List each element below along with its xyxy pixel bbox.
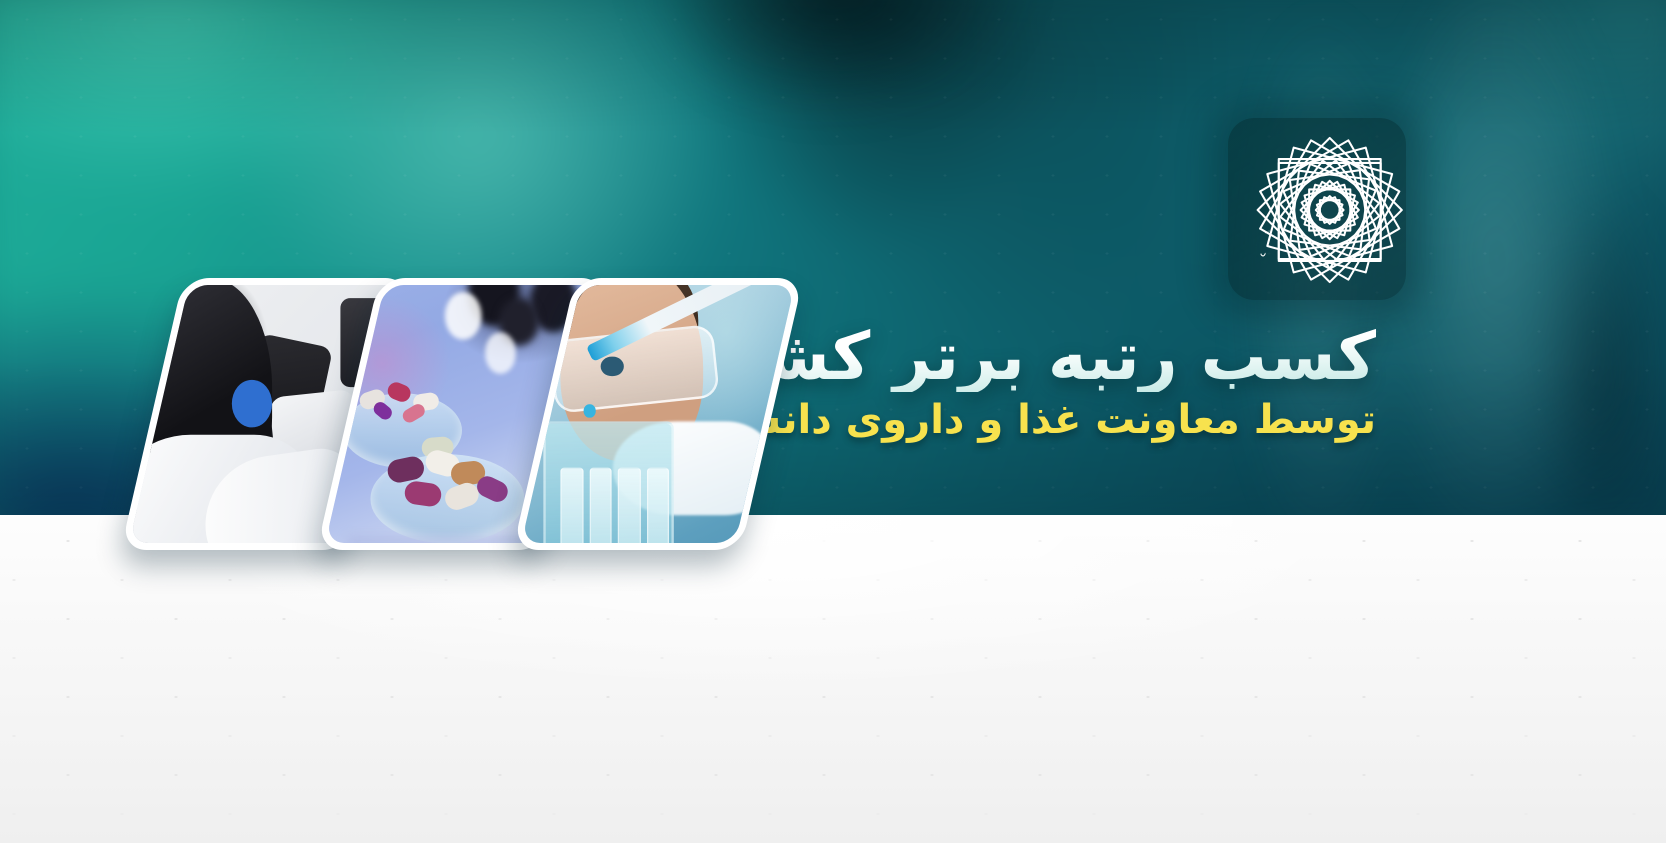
svg-text:دانشگاه علوم پزشکی و خدمات بهد: دانشگاه علوم پزشکی و خدمات بهداشتی درمان… xyxy=(1218,112,1271,259)
banner-page: بهشتی درمانی دانشگاه علوم پزشکی و خدمات … xyxy=(0,0,1666,843)
logo-outer-text: دانشگاه علوم پزشکی و خدمات بهداشتی درمان… xyxy=(1218,112,1271,259)
photo-card-strip xyxy=(130,278,850,578)
logo-inner-text: بهشتی درمانی xyxy=(1218,112,1272,238)
svg-text:بهشتی درمانی: بهشتی درمانی xyxy=(1218,112,1272,238)
university-logo[interactable]: بهشتی درمانی دانشگاه علوم پزشکی و خدمات … xyxy=(1218,112,1414,308)
